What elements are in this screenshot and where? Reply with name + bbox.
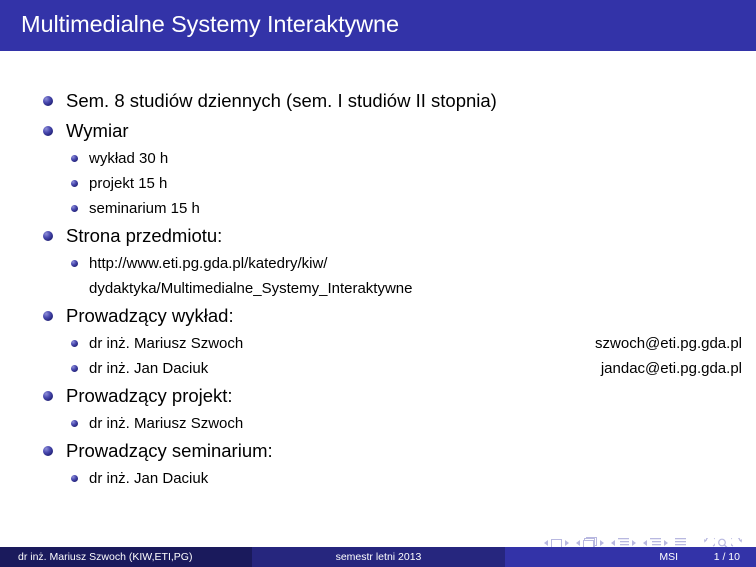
list-item: Strona przedmiotu: http://www.eti.pg.gda… bbox=[42, 221, 742, 301]
bullet-sphere-icon bbox=[43, 311, 53, 321]
list-item: seminarium 15 h bbox=[66, 196, 742, 221]
bullet-sphere-icon bbox=[71, 180, 78, 187]
list-item: Prowadzący wykład: dr inż. Mariusz Szwoc… bbox=[42, 301, 742, 381]
list-item: dr inż. Jan Daciuk jandac@eti.pg.gda.pl bbox=[66, 356, 742, 381]
list-item-label: projekt 15 h bbox=[89, 175, 167, 192]
bullet-list-level-1: Sem. 8 studiów dziennych (sem. I studiów… bbox=[42, 86, 742, 491]
list-item-label: Prowadzący projekt: bbox=[66, 385, 233, 406]
bullet-sphere-icon bbox=[43, 96, 53, 106]
bullet-sphere-icon bbox=[71, 365, 78, 372]
list-item-label: Wymiar bbox=[66, 120, 129, 141]
footer-page-number: 1 / 10 bbox=[706, 551, 740, 563]
slide-content: Sem. 8 studiów dziennych (sem. I studiów… bbox=[0, 51, 756, 516]
bullet-sphere-icon bbox=[71, 155, 78, 162]
list-item: Sem. 8 studiów dziennych (sem. I studiów… bbox=[42, 86, 742, 116]
list-item: dr inż. Mariusz Szwoch bbox=[66, 411, 742, 436]
bullet-list-level-2: wykład 30 h projekt 15 h seminarium 15 h bbox=[66, 146, 742, 221]
frame-next-icon[interactable] bbox=[600, 540, 604, 546]
list-item-label: seminarium 15 h bbox=[89, 200, 200, 217]
list-item: dr inż. Jan Daciuk bbox=[66, 466, 742, 491]
list-item: Wymiar wykład 30 h projekt 15 h seminari… bbox=[42, 116, 742, 221]
bullet-list-level-2: http://www.eti.pg.gda.pl/katedry/kiw/ dy… bbox=[66, 251, 742, 301]
footer-author: dr inż. Mariusz Szwoch (KIW,ETI,PG) bbox=[0, 547, 252, 567]
footer-right: MSI 1 / 10 bbox=[505, 547, 756, 567]
lecturer-name: dr inż. Jan Daciuk bbox=[89, 360, 208, 377]
bullet-list-level-2: dr inż. Mariusz Szwoch bbox=[66, 411, 742, 436]
list-item: wykład 30 h bbox=[66, 146, 742, 171]
list-item: Prowadzący projekt: dr inż. Mariusz Szwo… bbox=[42, 381, 742, 436]
subsection-prev-icon[interactable] bbox=[611, 540, 615, 546]
list-item: dr inż. Mariusz Szwoch szwoch@eti.pg.gda… bbox=[66, 331, 742, 356]
bullet-sphere-icon bbox=[43, 391, 53, 401]
list-item-label: wykład 30 h bbox=[89, 150, 168, 167]
bullet-sphere-icon bbox=[71, 340, 78, 347]
subsection-next-icon[interactable] bbox=[632, 540, 636, 546]
bullet-sphere-icon bbox=[43, 231, 53, 241]
list-item: http://www.eti.pg.gda.pl/katedry/kiw/ dy… bbox=[66, 251, 742, 301]
list-item: projekt 15 h bbox=[66, 171, 742, 196]
slide-title-bar: Multimedialne Systemy Interaktywne bbox=[0, 0, 756, 51]
bullet-list-level-2: dr inż. Jan Daciuk bbox=[66, 466, 742, 491]
bullet-sphere-icon bbox=[71, 475, 78, 482]
slide-next-icon[interactable] bbox=[565, 540, 569, 546]
footer-short-title: MSI bbox=[659, 551, 678, 563]
lecturer-name: dr inż. Mariusz Szwoch bbox=[89, 335, 243, 352]
course-url-line-2[interactable]: dydaktyka/Multimedialne_Systemy_Interakt… bbox=[89, 276, 742, 301]
slide-prev-icon[interactable] bbox=[544, 540, 548, 546]
list-item-label: Sem. 8 studiów dziennych (sem. I studiów… bbox=[66, 90, 497, 111]
seminar-leader-name: dr inż. Jan Daciuk bbox=[89, 470, 208, 487]
lecturer-email[interactable]: jandac@eti.pg.gda.pl bbox=[601, 356, 742, 381]
bullet-list-level-2: dr inż. Mariusz Szwoch szwoch@eti.pg.gda… bbox=[66, 331, 742, 381]
lecturer-email[interactable]: szwoch@eti.pg.gda.pl bbox=[595, 331, 742, 356]
slide-footer: dr inż. Mariusz Szwoch (KIW,ETI,PG) seme… bbox=[0, 547, 756, 567]
list-item: Prowadzący seminarium: dr inż. Jan Daciu… bbox=[42, 436, 742, 491]
list-item-label: Prowadzący seminarium: bbox=[66, 440, 273, 461]
page-title: Multimedialne Systemy Interaktywne bbox=[21, 11, 399, 38]
course-url-line-1[interactable]: http://www.eti.pg.gda.pl/katedry/kiw/ bbox=[89, 255, 327, 272]
footer-semester: semestr letni 2013 bbox=[252, 547, 505, 567]
project-leader-name: dr inż. Mariusz Szwoch bbox=[89, 415, 243, 432]
bullet-sphere-icon bbox=[71, 420, 78, 427]
bullet-sphere-icon bbox=[71, 205, 78, 212]
list-item-label: Prowadzący wykład: bbox=[66, 305, 234, 326]
bullet-sphere-icon bbox=[43, 446, 53, 456]
frame-prev-icon[interactable] bbox=[576, 540, 580, 546]
bullet-sphere-icon bbox=[43, 126, 53, 136]
section-prev-icon[interactable] bbox=[643, 540, 647, 546]
list-item-label: Strona przedmiotu: bbox=[66, 225, 222, 246]
bullet-sphere-icon bbox=[71, 260, 78, 267]
section-next-icon[interactable] bbox=[664, 540, 668, 546]
